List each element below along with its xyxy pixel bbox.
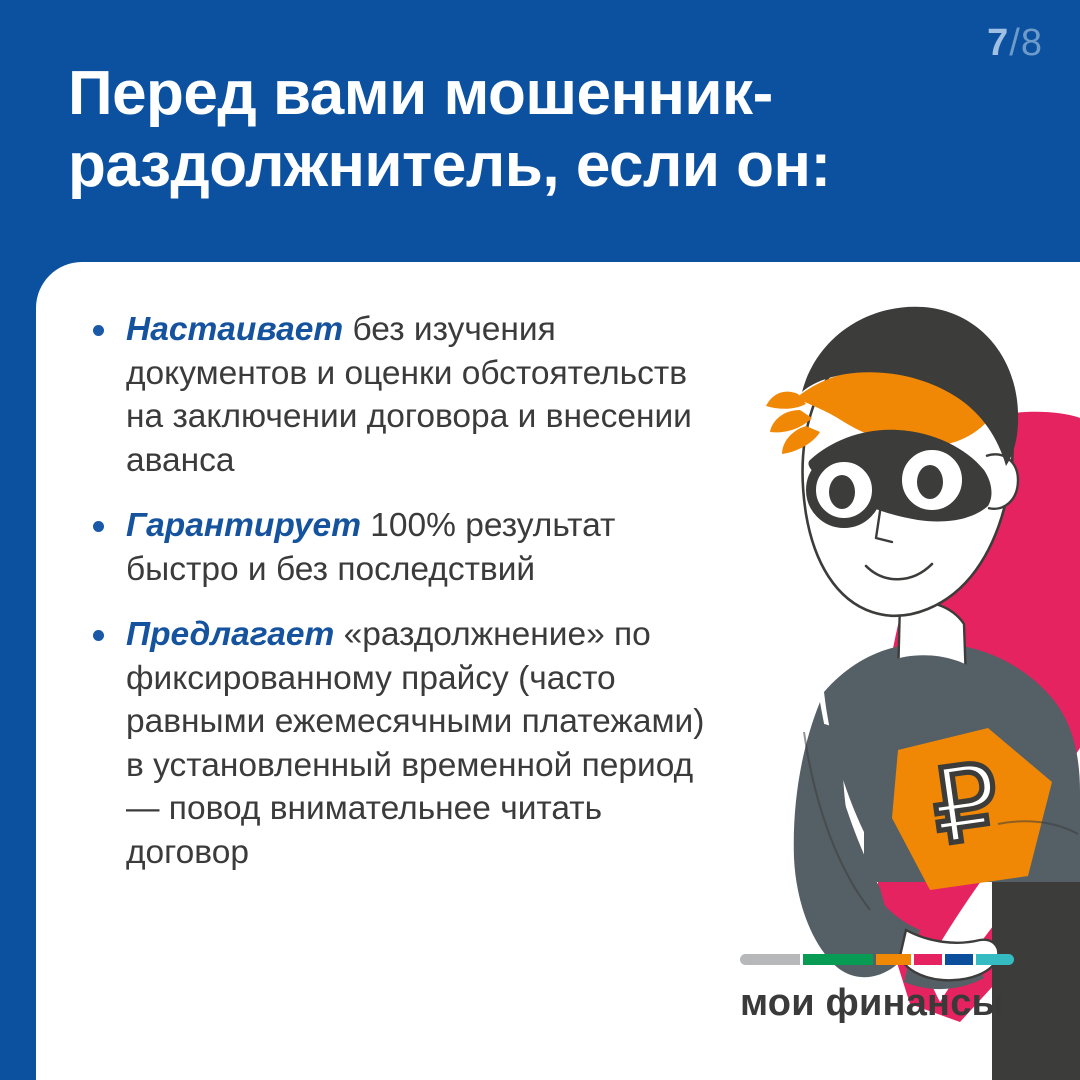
logo-bar-segment-gray	[740, 954, 800, 965]
bullet-lead-word: Гарантирует	[126, 507, 361, 544]
logo-wordmark: мои финансы	[740, 982, 1022, 1025]
page-counter-separator: /	[1008, 22, 1021, 64]
list-item: Настаивает без изучения документов и оце…	[81, 308, 721, 482]
header-band: 7/8 Перед вами мошенник- раздолжнитель, …	[0, 0, 1080, 300]
page-title: Перед вами мошенник- раздолжнитель, если…	[68, 58, 1008, 202]
logo-bar-segment-orange	[876, 954, 911, 965]
bullet-lead-word: Настаивает	[126, 311, 343, 348]
page-counter: 7/8	[987, 24, 1042, 62]
infographic-slide: 7/8 Перед вами мошенник- раздолжнитель, …	[0, 0, 1080, 1080]
bullet-lead-word: Предлагает	[126, 616, 334, 653]
list-item: Гарантирует 100% результат быстро и без …	[81, 504, 721, 591]
list-item: Предлагает «раздолжнение» по фиксированн…	[81, 613, 721, 874]
page-counter-total: 8	[1021, 22, 1042, 64]
bullet-dot-icon	[93, 521, 104, 532]
bullet-dot-icon	[93, 325, 104, 336]
logo-color-bar	[740, 954, 1016, 965]
logo-bar-segment-teal	[976, 954, 1014, 965]
logo-bar-segment-blue	[945, 954, 973, 965]
brand-logo: мои финансы	[740, 954, 1022, 1025]
content-card: Настаивает без изучения документов и оце…	[36, 262, 1080, 1080]
bullet-dot-icon	[93, 630, 104, 641]
page-title-line-1: Перед вами мошенник-	[68, 58, 1008, 130]
bullet-list: Настаивает без изучения документов и оце…	[81, 308, 721, 875]
left-pupil	[829, 475, 855, 509]
page-title-line-2: раздолжнитель, если он:	[68, 130, 1008, 202]
logo-bar-segment-green	[803, 954, 873, 965]
right-pupil	[917, 465, 943, 499]
logo-bar-segment-pink	[914, 954, 942, 965]
bullet-text: «раздолжнение» по фиксированному прайсу …	[126, 616, 704, 871]
